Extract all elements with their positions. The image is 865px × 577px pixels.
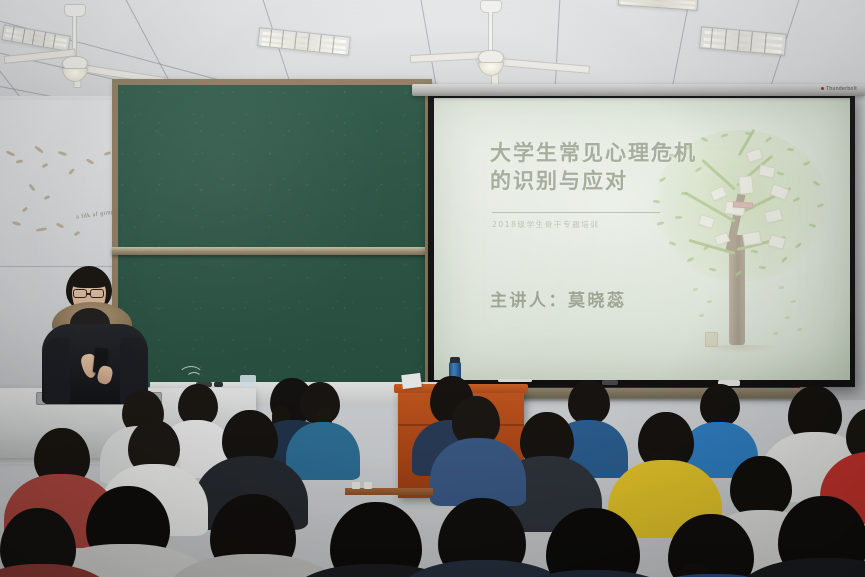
blackboard-left	[112, 79, 432, 397]
cup	[352, 482, 360, 489]
bench	[345, 488, 433, 495]
slide-divider	[492, 212, 660, 213]
ceiling-fan	[56, 4, 176, 90]
audience	[0, 368, 865, 577]
ceiling-light-fixture	[699, 26, 787, 55]
ceiling-light-fixture	[618, 0, 699, 11]
slide-title: 大学生常见心理危机 的识别与应对	[490, 140, 725, 195]
student-body	[286, 422, 360, 480]
glasses	[90, 289, 104, 298]
cup	[364, 482, 372, 489]
student-body	[430, 438, 526, 506]
slide-subtitle: 2018级学生骨干专题培训	[492, 219, 599, 230]
ceiling-light-fixture	[257, 27, 350, 56]
housing-brand-label: Thunderbolt	[821, 86, 857, 92]
slide-presenter: 主讲人：莫晓蕊	[490, 286, 627, 311]
student-head	[568, 380, 610, 424]
classroom-photo: a fdk af gimp Thunderbolt	[0, 0, 865, 577]
projector-screen-housing: Thunderbolt	[412, 84, 865, 96]
projector-screen: 大学生常见心理危机 的识别与应对 2018级学生骨干专题培训 主讲人：莫晓蕊	[428, 92, 855, 387]
slide-surface: 大学生常见心理危机 的识别与应对 2018级学生骨干专题培训 主讲人：莫晓蕊	[434, 98, 850, 380]
wall-marking: a fdk af gimp	[76, 209, 115, 220]
ceiling-fan	[466, 0, 616, 96]
student-head	[700, 384, 740, 426]
glasses	[73, 289, 87, 298]
